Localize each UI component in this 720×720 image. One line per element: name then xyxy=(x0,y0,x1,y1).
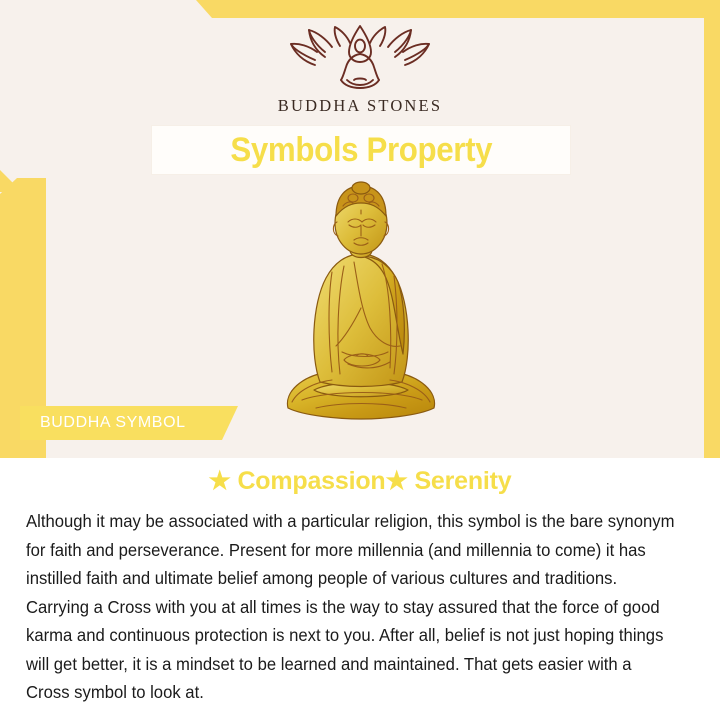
content-section: ★ Compassion★ Serenity Although it may b… xyxy=(0,458,720,720)
section-subtitle: ★ Compassion★ Serenity xyxy=(0,458,720,496)
title-banner: Symbols Property xyxy=(152,126,570,174)
lotus-meditation-icon xyxy=(285,24,435,90)
brand-name: BUDDHA STONES xyxy=(278,96,442,116)
seated-golden-buddha-illustration xyxy=(258,176,464,420)
badge-label: BUDDHA SYMBOL xyxy=(40,414,186,432)
body-paragraph: Although it may be associated with a par… xyxy=(26,508,677,708)
status-badge: BUDDHA SYMBOL xyxy=(20,406,238,440)
brand-logo: BUDDHA STONES xyxy=(0,24,720,116)
page-title: Symbols Property xyxy=(230,131,492,170)
poster-root: BUDDHA STONES Symbols Property xyxy=(0,0,720,720)
